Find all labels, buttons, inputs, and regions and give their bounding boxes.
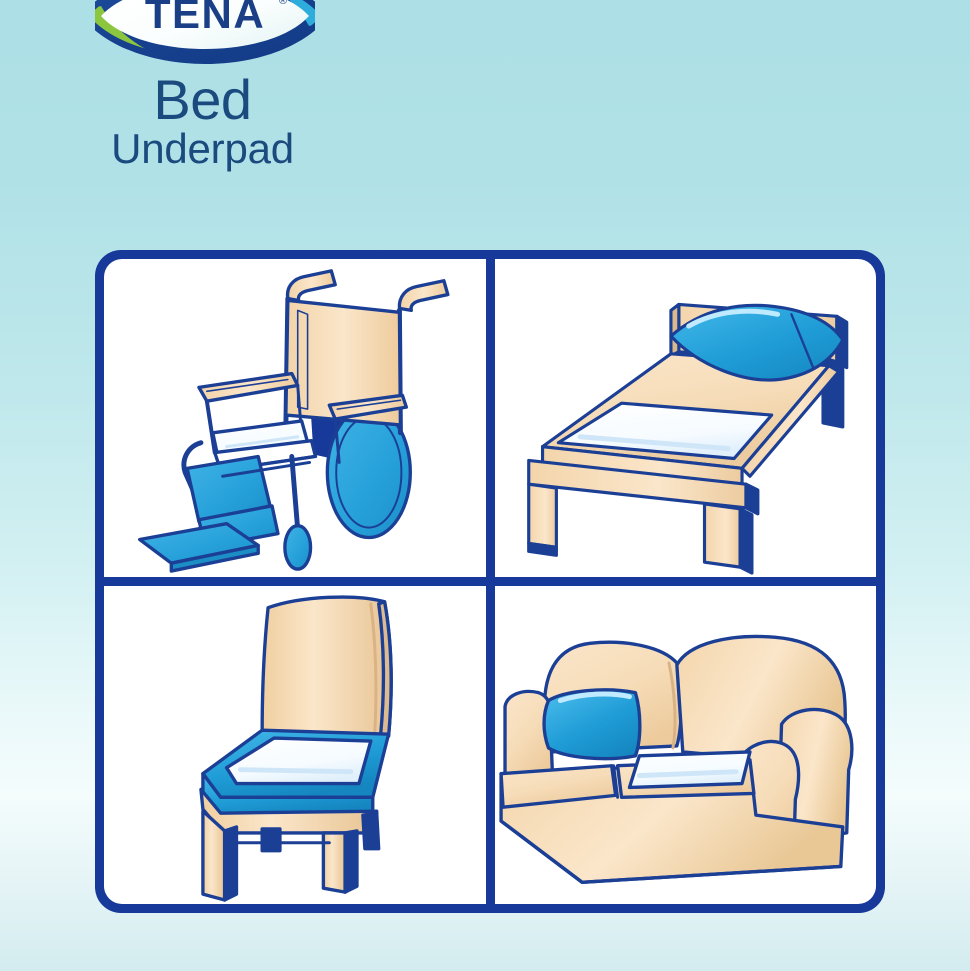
logo-trademark-icon: ®: [279, 0, 287, 7]
wheelchair-illustration: [104, 259, 486, 577]
panel-bed: [495, 259, 877, 577]
product-pack-graphic: TENA ® Bed Underpad: [0, 0, 970, 971]
chair-illustration: [104, 586, 486, 904]
tena-leaf-logo: TENA ®: [95, 0, 315, 66]
logo-wordmark: TENA: [145, 0, 265, 37]
bed-illustration: [495, 259, 877, 577]
panel-wheelchair: [104, 259, 486, 577]
brand-block: TENA ® Bed Underpad: [0, 0, 410, 200]
panel-sofa: [495, 586, 877, 904]
panel-chair: [104, 586, 486, 904]
page-title: Bed: [0, 72, 405, 128]
sofa-illustration: [495, 586, 877, 904]
page-subtitle: Underpad: [0, 128, 405, 170]
usage-icon-grid: [95, 250, 885, 913]
